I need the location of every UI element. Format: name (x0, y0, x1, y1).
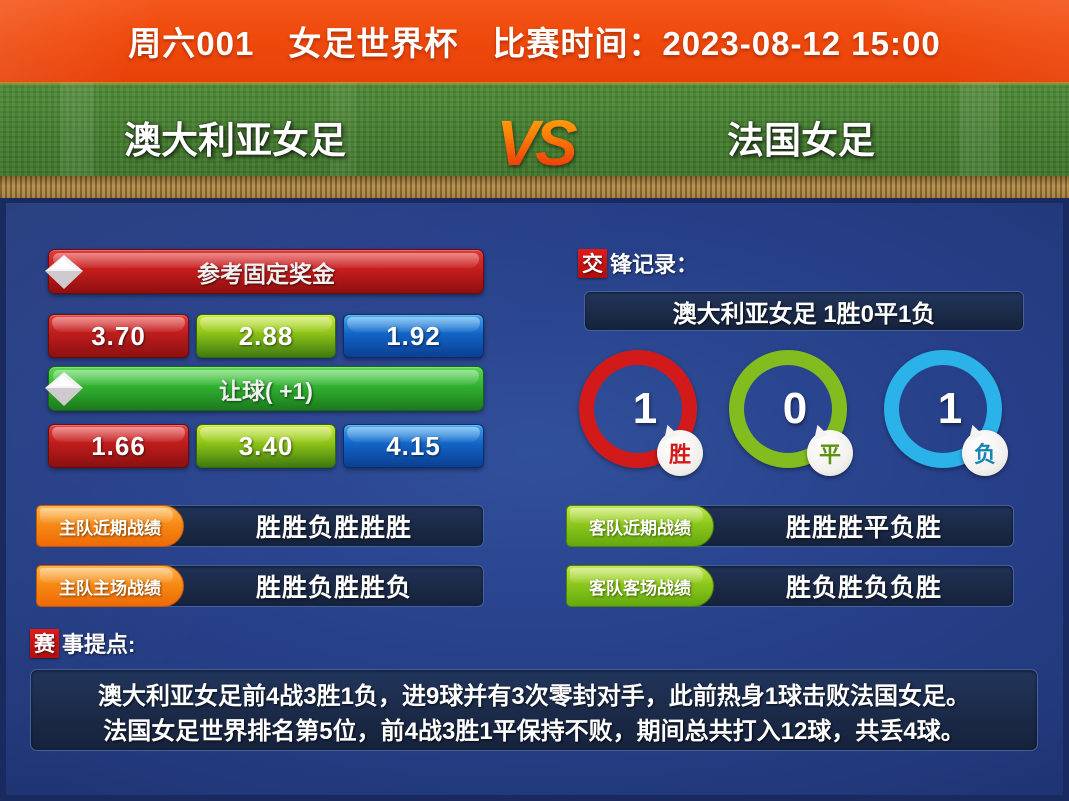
h2h-section-header: 交 锋记录： (578, 247, 698, 279)
pitch-top-line (0, 82, 1069, 85)
home-recent-form-value: 胜胜负胜胜胜 (184, 505, 484, 547)
home-venue-form-row: 胜胜负胜胜负 主队主场战绩 (36, 565, 484, 607)
handicap-header: 让球( +1) (48, 366, 484, 411)
fixed-odds-header-label: 参考固定奖金 (197, 255, 335, 289)
handicap-home-button[interactable]: 1.66 (48, 424, 189, 468)
handicap-draw-value: 3.40 (239, 431, 294, 462)
fixed-odds-draw-value: 2.88 (239, 321, 294, 352)
h2h-summary-bar: 澳大利亚女足 1胜0平1负 (584, 291, 1024, 331)
diamond-icon (45, 253, 83, 291)
tips-box: 澳大利亚女足前4战3胜1负，进9球并有3次零封对手，此前热身1球击败法国女足。 … (30, 669, 1038, 751)
fixed-odds-home-value: 3.70 (91, 321, 146, 352)
handicap-header-label: 让球( +1) (219, 372, 313, 406)
away-venue-form-tag: 客队客场战绩 (566, 565, 714, 607)
pitch-stripe (959, 82, 999, 176)
fixed-odds-draw-button[interactable]: 2.88 (196, 314, 336, 358)
tips-section-title: 事提点: (62, 627, 135, 659)
diamond-icon (45, 370, 83, 408)
away-recent-form-value: 胜胜胜平负胜 (714, 505, 1014, 547)
tips-line: 澳大利亚女足前4战3胜1负，进9球并有3次零封对手，此前热身1球击败法国女足。 (45, 676, 1023, 711)
header-banner: 周六001 女足世界杯 比赛时间：2023-08-12 15:00 (0, 0, 1069, 82)
h2h-win-ring: 1 胜 (579, 350, 697, 468)
home-venue-form-tag: 主队主场战绩 (36, 565, 184, 607)
content-panel: 参考固定奖金 3.70 2.88 1.92 让球( +1) 1.66 3.40 … (0, 198, 1069, 801)
tips-line: 法国女足世界排名第5位，前4战3胜1平保持不败，期间总共打入12球，共丢4球。 (45, 711, 1023, 746)
away-recent-form-row: 胜胜胜平负胜 客队近期战绩 (566, 505, 1014, 547)
away-team-name: 法国女足 (727, 110, 875, 164)
handicap-draw-button[interactable]: 3.40 (196, 424, 336, 468)
loss-ring-badge: 负 (962, 430, 1008, 476)
fixed-odds-away-value: 1.92 (386, 321, 441, 352)
draw-ring-badge: 平 (807, 430, 853, 476)
header-title: 周六001 女足世界杯 比赛时间：2023-08-12 15:00 (0, 0, 1069, 82)
home-recent-form-tag: 主队近期战绩 (36, 505, 184, 547)
fixed-odds-home-button[interactable]: 3.70 (48, 314, 189, 358)
away-recent-form-tag: 客队近期战绩 (566, 505, 714, 547)
win-ring-badge: 胜 (657, 430, 703, 476)
match-preview-graphic: 周六001 女足世界杯 比赛时间：2023-08-12 15:00 澳大利亚女足… (0, 0, 1069, 801)
handicap-away-button[interactable]: 4.15 (343, 424, 484, 468)
handicap-home-value: 1.66 (91, 431, 146, 462)
pitch-dirt-strip (0, 176, 1069, 198)
away-venue-form-value: 胜负胜负负胜 (714, 565, 1014, 607)
tips-section-header: 赛 事提点: (30, 627, 135, 659)
h2h-badge: 交 (578, 249, 607, 278)
h2h-draw-ring: 0 平 (729, 350, 847, 468)
pitch-banner: 澳大利亚女足 VS 法国女足 (0, 82, 1069, 198)
fixed-odds-header: 参考固定奖金 (48, 249, 484, 294)
away-venue-form-row: 胜负胜负负胜 客队客场战绩 (566, 565, 1014, 607)
home-team-name: 澳大利亚女足 (124, 110, 346, 164)
tips-badge: 赛 (30, 629, 59, 658)
home-recent-form-row: 胜胜负胜胜胜 主队近期战绩 (36, 505, 484, 547)
h2h-section-title: 锋记录： (610, 247, 698, 279)
handicap-away-value: 4.15 (386, 431, 441, 462)
home-venue-form-value: 胜胜负胜胜负 (184, 565, 484, 607)
h2h-loss-ring: 1 负 (884, 350, 1002, 468)
fixed-odds-away-button[interactable]: 1.92 (343, 314, 484, 358)
h2h-summary-text: 澳大利亚女足 1胜0平1负 (673, 294, 936, 329)
pitch-stripe (60, 82, 94, 176)
